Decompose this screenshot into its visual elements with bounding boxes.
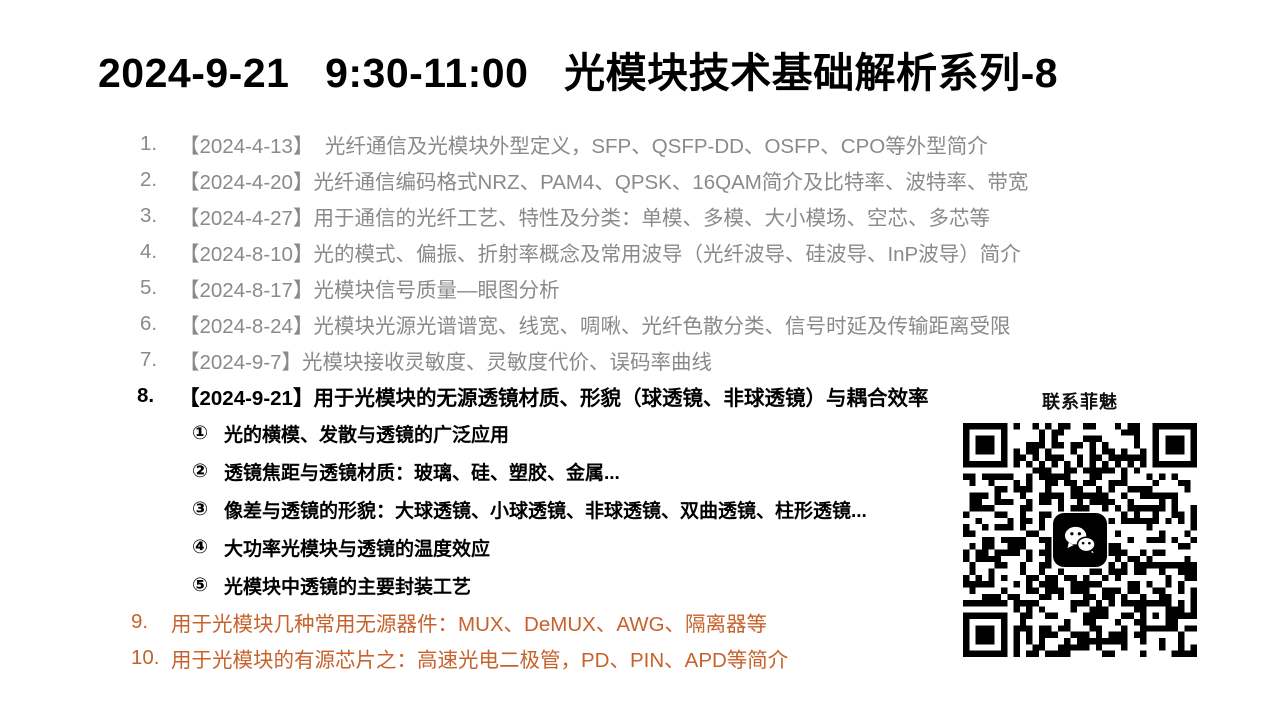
agenda-item-number: ① bbox=[192, 422, 222, 445]
agenda-item-text: 【2024-4-27】用于通信的光纤工艺、特性及分类：单模、多模、大小模场、空芯… bbox=[179, 201, 990, 231]
wechat-qr-code[interactable] bbox=[963, 421, 1197, 659]
agenda-item-text: 透镜焦距与透镜材质：玻璃、硅、塑胶、金属... bbox=[224, 458, 620, 485]
agenda-item-text: 光模块中透镜的主要封装工艺 bbox=[224, 572, 471, 599]
agenda-item-text: 【2024-9-21】用于光模块的无源透镜材质、形貌（球透镜、非球透镜）与耦合效… bbox=[179, 381, 928, 411]
agenda-item-number: 7. bbox=[140, 348, 174, 372]
agenda-item-number: 4. bbox=[140, 240, 174, 264]
agenda-item-number: 9. bbox=[131, 610, 171, 634]
agenda-item-3: 3.【2024-4-27】用于通信的光纤工艺、特性及分类：单模、多模、大小模场、… bbox=[0, 198, 1269, 234]
agenda-item-6: 6.【2024-8-24】光模块光源光谱谱宽、线宽、啁啾、光纤色散分类、信号时延… bbox=[0, 306, 1269, 342]
agenda-item-text: 光的横模、发散与透镜的广泛应用 bbox=[224, 420, 509, 447]
agenda-item-number: ⑤ bbox=[192, 574, 222, 597]
agenda-item-text: 用于光模块几种常用无源器件：MUX、DeMUX、AWG、隔离器等 bbox=[171, 607, 767, 637]
slide-title: 2024-9-21 9:30-11:00 光模块技术基础解析系列-8 bbox=[98, 50, 1058, 97]
agenda-item-4: 4.【2024-8-10】光的模式、偏振、折射率概念及常用波导（光纤波导、硅波导… bbox=[0, 234, 1269, 270]
contact-block: 联系菲魅 bbox=[961, 388, 1199, 659]
agenda-item-text: 像差与透镜的形貌：大球透镜、小球透镜、非球透镜、双曲透镜、柱形透镜... bbox=[224, 496, 867, 523]
agenda-item-number: 5. bbox=[140, 276, 174, 300]
agenda-item-text: 【2024-9-7】光模块接收灵敏度、灵敏度代价、误码率曲线 bbox=[179, 345, 712, 375]
agenda-item-number: 3. bbox=[140, 204, 174, 228]
agenda-item-number: 6. bbox=[140, 312, 174, 336]
agenda-item-number: ③ bbox=[192, 498, 222, 521]
agenda-item-text: 【2024-4-13】 光纤通信及光模块外型定义，SFP、QSFP-DD、OSF… bbox=[179, 129, 988, 159]
agenda-item-text: 【2024-4-20】光纤通信编码格式NRZ、PAM4、QPSK、16QAM简介… bbox=[179, 165, 1028, 195]
agenda-item-text: 【2024-8-24】光模块光源光谱谱宽、线宽、啁啾、光纤色散分类、信号时延及传… bbox=[179, 309, 1010, 339]
agenda-item-1: 1.【2024-4-13】 光纤通信及光模块外型定义，SFP、QSFP-DD、O… bbox=[0, 126, 1269, 162]
wechat-bubbles-icon bbox=[1060, 520, 1100, 560]
agenda-item-5: 5.【2024-8-17】光模块信号质量—眼图分析 bbox=[0, 270, 1269, 306]
agenda-item-number: 1. bbox=[140, 132, 174, 156]
agenda-item-text: 大功率光模块与透镜的温度效应 bbox=[224, 534, 490, 561]
agenda-item-number: ④ bbox=[192, 536, 222, 559]
agenda-item-number: 2. bbox=[140, 168, 174, 192]
contact-caption: 联系菲魅 bbox=[961, 388, 1199, 414]
agenda-item-text: 【2024-8-17】光模块信号质量—眼图分析 bbox=[179, 273, 559, 303]
agenda-item-text: 【2024-8-10】光的模式、偏振、折射率概念及常用波导（光纤波导、硅波导、I… bbox=[179, 237, 1021, 267]
wechat-logo-icon bbox=[1053, 513, 1107, 567]
agenda-item-7: 7.【2024-9-7】光模块接收灵敏度、灵敏度代价、误码率曲线 bbox=[0, 342, 1269, 378]
agenda-item-2: 2.【2024-4-20】光纤通信编码格式NRZ、PAM4、QPSK、16QAM… bbox=[0, 162, 1269, 198]
agenda-item-number: 10. bbox=[131, 646, 171, 670]
slide-canvas: 2024-9-21 9:30-11:00 光模块技术基础解析系列-8 1.【20… bbox=[0, 0, 1269, 713]
agenda-item-number: ② bbox=[192, 460, 222, 483]
agenda-item-text: 用于光模块的有源芯片之：高速光电二极管，PD、PIN、APD等简介 bbox=[171, 643, 788, 673]
agenda-item-number: 8. bbox=[137, 384, 173, 408]
